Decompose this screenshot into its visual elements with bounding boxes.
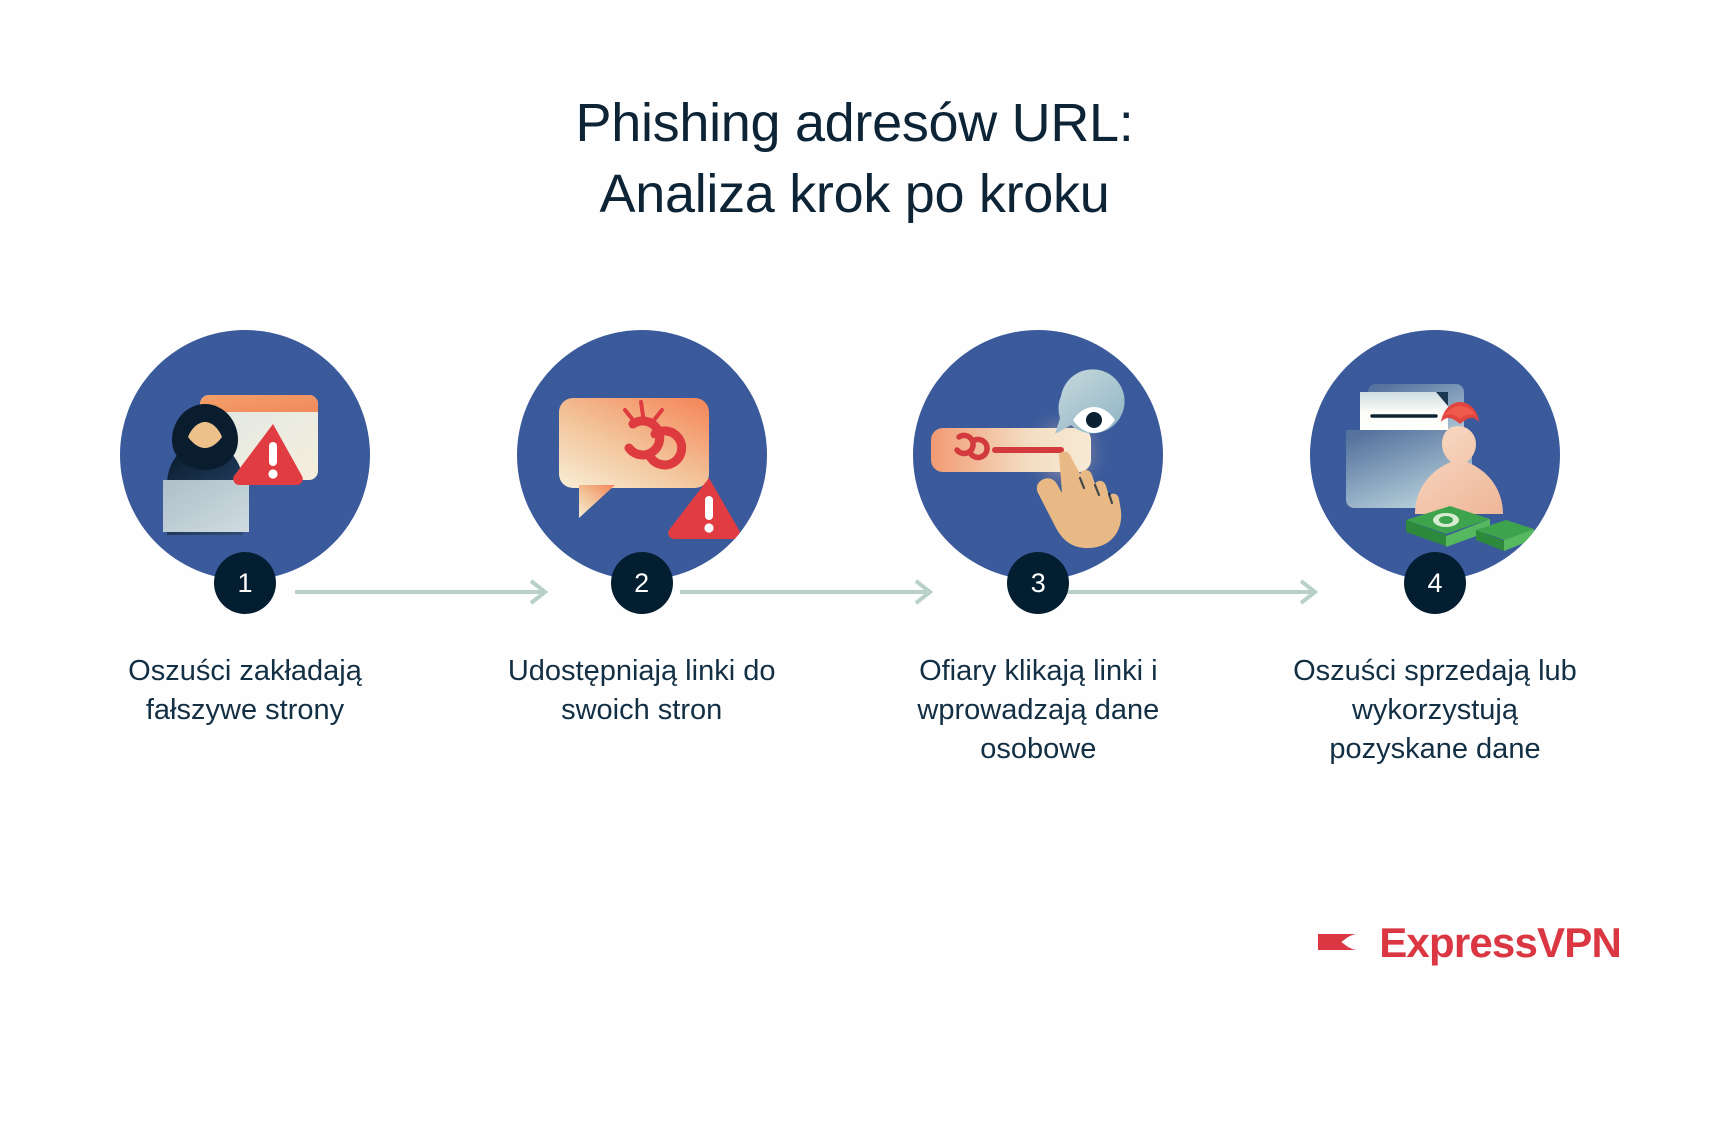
step-4-illustration-circle — [1310, 330, 1560, 580]
url-bar-click-eye-icon — [913, 330, 1163, 580]
title-line-1: Phishing adresów URL: — [0, 88, 1709, 159]
hacker-laptop-warning-icon — [120, 330, 370, 580]
step-2-illustration-circle — [517, 330, 767, 580]
title-line-2: Analiza krok po kroku — [0, 159, 1709, 230]
step-2-number-badge: 2 — [611, 552, 673, 614]
step-4: 4 Oszuści sprzedają lub wykorzystują poz… — [1285, 330, 1585, 769]
step-2-caption: Udostępniają linki do swoich stron — [487, 652, 797, 730]
steps-row: 1 Oszuści zakładają fałszywe strony — [95, 330, 1585, 769]
page-title: Phishing adresów URL: Analiza krok po kr… — [0, 88, 1709, 231]
folder-documents-money-icon — [1310, 330, 1560, 580]
step-1-illustration-circle — [120, 330, 370, 580]
step-1: 1 Oszuści zakładają fałszywe strony — [95, 330, 395, 730]
infographic-canvas: Phishing adresów URL: Analiza krok po kr… — [0, 0, 1709, 1121]
expressvpn-logo-text: ExpressVPN — [1379, 919, 1621, 967]
expressvpn-logo: ExpressVPN — [1310, 915, 1621, 971]
step-3: 3 Ofiary klikają linki i wprowadzają dan… — [888, 330, 1188, 769]
step-3-illustration-circle — [913, 330, 1163, 580]
step-3-caption: Ofiary klikają linki i wprowadzają dane … — [883, 652, 1193, 769]
step-4-number-badge: 4 — [1404, 552, 1466, 614]
step-1-number-badge: 1 — [214, 552, 276, 614]
step-3-number-badge: 3 — [1007, 552, 1069, 614]
step-1-caption: Oszuści zakładają fałszywe strony — [90, 652, 400, 730]
step-2: 2 Udostępniają linki do swoich stron — [492, 330, 792, 730]
step-4-caption: Oszuści sprzedają lub wykorzystują pozys… — [1280, 652, 1590, 769]
chat-broken-link-warning-icon — [517, 330, 767, 580]
expressvpn-mark-icon — [1310, 915, 1366, 971]
